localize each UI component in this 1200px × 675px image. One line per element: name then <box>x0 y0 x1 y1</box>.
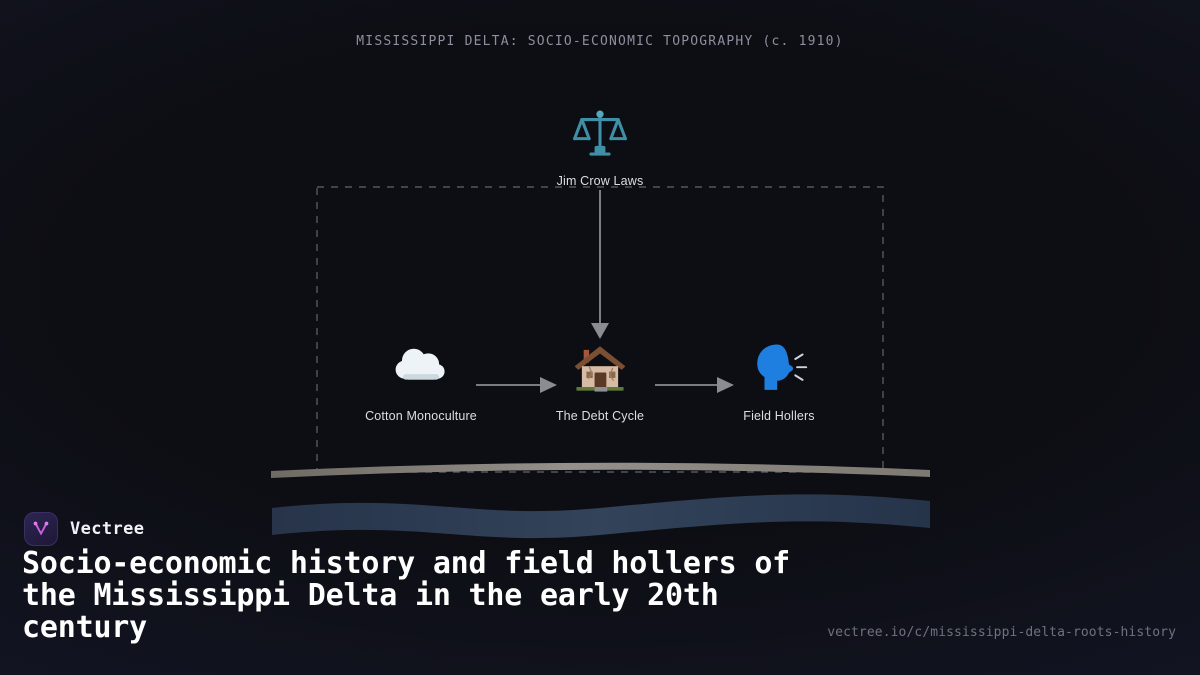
derelict-house-icon <box>520 341 680 399</box>
levee-band <box>271 463 930 478</box>
vectree-logo-icon <box>24 512 58 546</box>
source-url: vectree.io/c/mississippi-delta-roots-his… <box>827 625 1176 640</box>
diagram-node-jim-crow-laws[interactable]: Jim Crow Laws <box>520 106 680 188</box>
diagram-title: MISSISSIPPI DELTA: SOCIO-ECONOMIC TOPOGR… <box>0 34 1200 49</box>
edge-jimcrow-to-debt <box>591 190 609 339</box>
diagram-node-field-hollers[interactable]: Field Hollers <box>699 341 859 423</box>
diagram-node-the-debt-cycle[interactable]: The Debt Cycle <box>520 341 680 423</box>
delta-region-boundary <box>317 187 883 472</box>
diagram-node-cotton-monoculture[interactable]: Cotton Monoculture <box>341 341 501 423</box>
node-label: Field Hollers <box>699 409 859 423</box>
headline: Socio-economic history and field hollers… <box>22 548 822 644</box>
cloud-icon <box>341 341 501 399</box>
brand-name: Vectree <box>70 519 144 539</box>
node-label: Jim Crow Laws <box>520 174 680 188</box>
node-label: The Debt Cycle <box>520 409 680 423</box>
river-band <box>272 494 930 538</box>
screenshot-canvas: MISSISSIPPI DELTA: SOCIO-ECONOMIC TOPOGR… <box>0 0 1200 675</box>
brand-row: Vectree <box>24 512 144 546</box>
node-label: Cotton Monoculture <box>341 409 501 423</box>
speaking-head-icon <box>699 341 859 399</box>
balance-scale-icon <box>520 106 680 164</box>
